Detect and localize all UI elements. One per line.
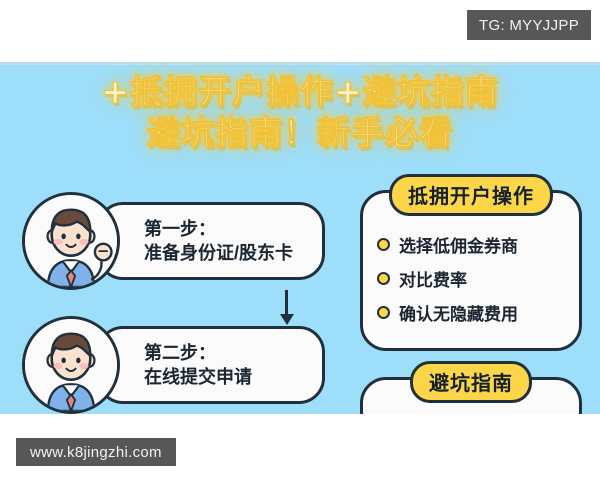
headline-line-1: +抵拥开户操作+避坑指南 [0,74,600,111]
person-avatar [22,316,120,414]
list-item: 选择低佣金券商 [377,232,569,257]
step-2-label: 第二步： [144,341,322,365]
artwork-band: +抵拥开户操作+避坑指南 避坑指南！新手必看 第一步： 准备身份证/股东卡 [0,62,600,414]
card-1-badge: 抵拥开户操作 [389,174,553,216]
flow-step-2[interactable]: 第二步： 在线提交申请 [22,316,332,414]
bullet-dot-icon [377,272,390,285]
list-item: 对比费率 [377,266,569,291]
telegram-watermark: TG: MYYJJPP [467,10,591,40]
list-item: 确认无隐藏费用 [377,300,569,325]
steps-flow: 第一步： 准备身份证/股东卡 [22,192,332,414]
info-cards-column: 抵拥开户操作 选择低佣金券商 对比费率 确认无隐藏费用 [360,190,582,414]
card-2-badge: 避坑指南 [410,361,532,403]
step-1-detail: 准备身份证/股东卡 [144,241,322,265]
card-1-bullet-1: 选择低佣金券商 [399,232,518,257]
poster-canvas: +抵拥开户操作+避坑指南 避坑指南！新手必看 第一步： 准备身份证/股东卡 [0,0,600,480]
person-raising-hand-avatar [22,192,120,290]
headline-line-2: 避坑指南！新手必看 [0,115,600,152]
headline: +抵拥开户操作+避坑指南 避坑指南！新手必看 [0,74,600,152]
info-card-account-opening: 抵拥开户操作 选择低佣金券商 对比费率 确认无隐藏费用 [360,190,582,351]
card-1-bullet-list: 选择低佣金券商 对比费率 确认无隐藏费用 [377,232,569,325]
step-2-detail: 在线提交申请 [144,365,322,389]
step-connector-arrow-icon [280,290,294,326]
step-2-bubble: 第二步： 在线提交申请 [97,326,325,404]
flow-step-1[interactable]: 第一步： 准备身份证/股东卡 [22,192,332,292]
step-1-label: 第一步： [144,217,322,241]
step-1-bubble: 第一步： 准备身份证/股东卡 [97,202,325,280]
bullet-dot-icon [377,306,390,319]
card-1-bullet-3: 确认无隐藏费用 [399,300,518,325]
website-watermark: www.k8jingzhi.com [16,438,176,466]
bullet-dot-icon [377,238,390,251]
band-top-edge [0,62,600,65]
info-card-pitfall-guide: 避坑指南 [360,377,582,414]
card-1-bullet-2: 对比费率 [399,266,467,291]
